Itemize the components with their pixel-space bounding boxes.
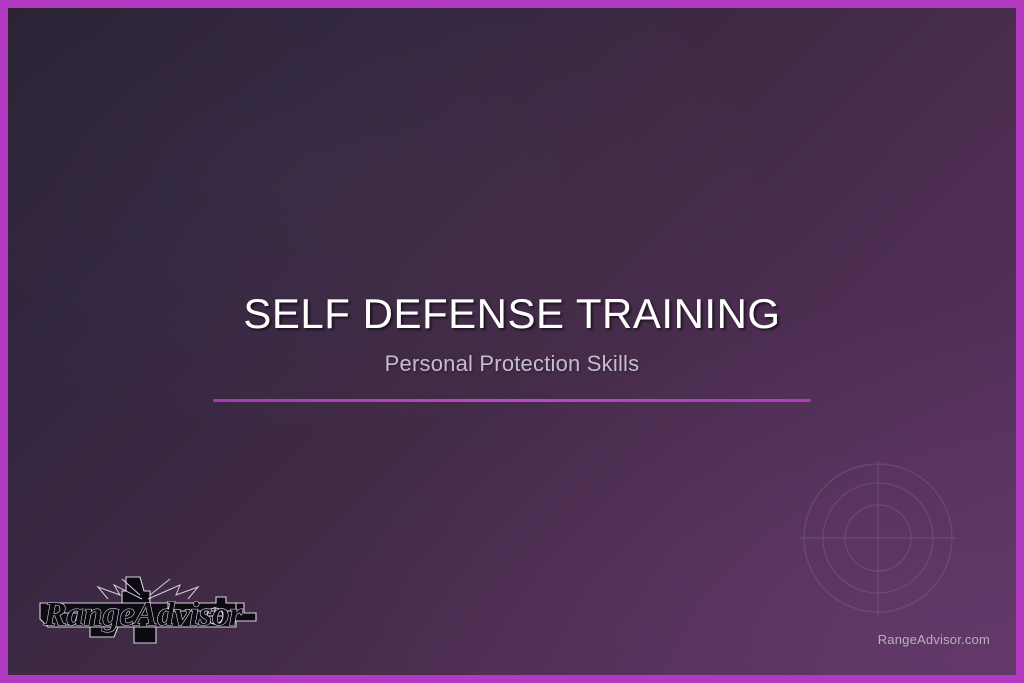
title-divider <box>213 399 811 402</box>
page-title: SELF DEFENSE TRAINING <box>8 291 1016 337</box>
watermark-url: RangeAdvisor.com <box>878 632 990 647</box>
page-subtitle: Personal Protection Skills <box>8 351 1016 377</box>
logo-wordmark: RangeAdvisor <box>43 596 243 633</box>
title-block: SELF DEFENSE TRAINING Personal Protectio… <box>8 291 1016 402</box>
target-crosshair-icon <box>798 458 958 618</box>
presentation-slide: SELF DEFENSE TRAINING Personal Protectio… <box>0 0 1024 683</box>
brand-logo[interactable]: RangeAdvisor <box>30 569 262 647</box>
